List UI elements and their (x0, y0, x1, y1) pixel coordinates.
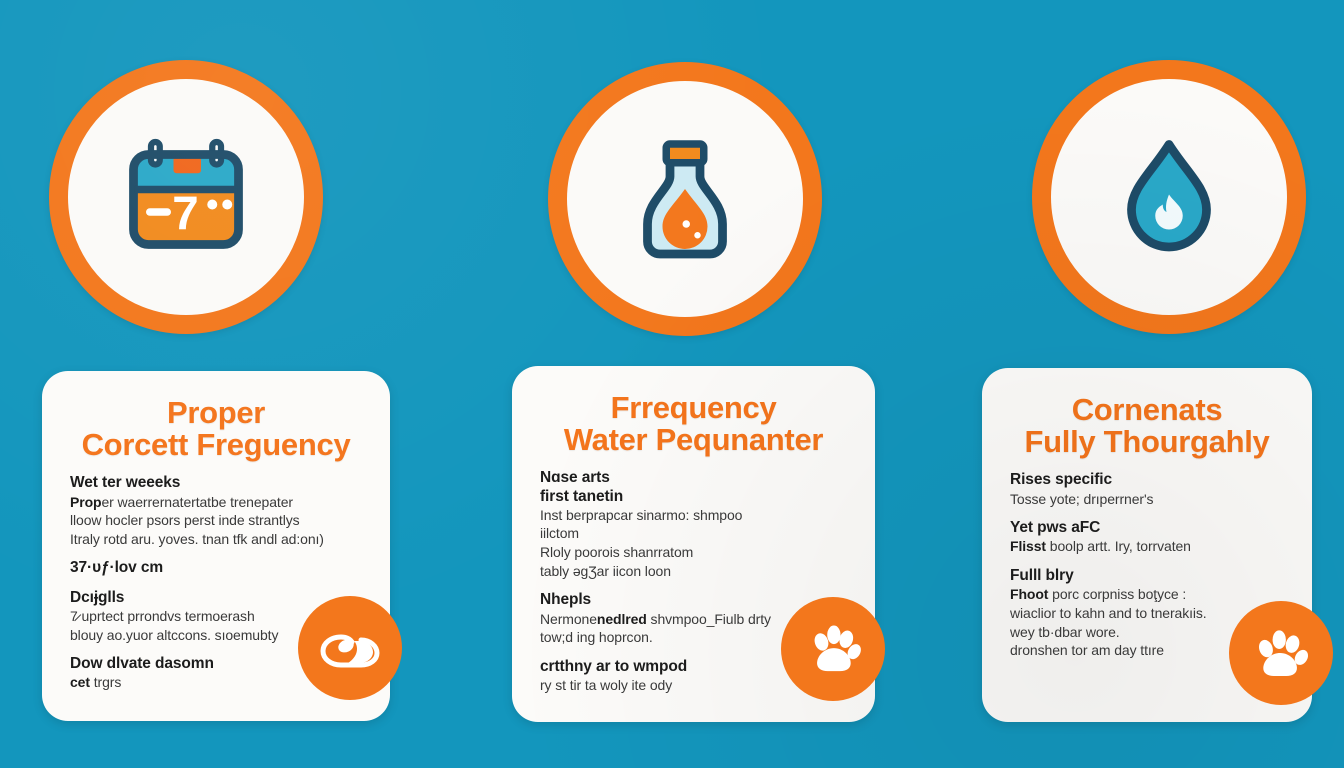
shampoo-bottle-icon (610, 124, 760, 274)
card-3-title: Cornenats Fully Thourgahly (1004, 394, 1290, 457)
paw-print-icon (315, 613, 385, 683)
card-2-block-3-line-1-c: shvmpoo_Fiulb drty (647, 611, 771, 627)
paw-badge-card-1 (298, 596, 402, 700)
card-2-block-2-heading: first tanetin (540, 488, 853, 506)
card-3-block-2: Yet pws aFC Flisst boolp artt. Iry, torr… (1010, 519, 1290, 556)
card-1-block-2: 37·ᴜƒ·lov cm (70, 559, 368, 577)
card-3-block-3-heading: Fulll blry (1010, 567, 1290, 585)
card-1-block-2-heading: 37·ᴜƒ·lov cm (70, 559, 368, 577)
card-3-block-2-heading: Yet pws aFC (1010, 519, 1290, 537)
card-2-block-2: first tanetin Inst berprapcar sinarmo: s… (540, 488, 853, 581)
card-1-block-1-line-1-lead: Prop (70, 494, 102, 510)
card-3-block-3-line-1-rest: porc corpniss boţyce : (1048, 586, 1186, 602)
card-1-title-line-2: Corcett Freguency (46, 429, 386, 461)
paw-print-icon (802, 618, 864, 680)
paw-badge-card-3 (1229, 601, 1333, 705)
card-1-title: Proper Corcett Freguency (64, 397, 368, 460)
icon-badge-water-droplet (1032, 60, 1306, 334)
card-1-title-line-1: Proper (167, 395, 265, 430)
card-3-title-line-1: Cornenats (1072, 392, 1223, 427)
card-2-block-1-heading: Nɑse arts (540, 469, 853, 487)
card-2-block-3-line-1-b: nedlred (597, 611, 647, 627)
card-2-title-line-2: Water Pequnanter (520, 424, 867, 456)
card-2-block-2-line-4: tably əgƷar iicon loon (540, 562, 853, 581)
card-3-block-3-line-1: Fhoot porc corpniss boţyce : (1010, 585, 1290, 604)
card-2-block-2-line-1: Inst berprapcar sinarmo: shmpoo (540, 506, 853, 525)
water-droplet-icon (1094, 122, 1244, 272)
card-1-block-1-line-2: lloow hocler psors perst inde strantlys (70, 511, 368, 530)
card-3-title-line-2: Fully Thourgahly (982, 426, 1312, 458)
card-3-block-1-line-1: Tosse yote; drıperrner's (1010, 490, 1290, 509)
card-1-block-1-line-3: Itraly rotd aru. yoves. tnan tfk andl ad… (70, 530, 368, 549)
card-1-block-4-line-1-lead: cet (70, 674, 90, 690)
card-2-block-2-line-2: iilctom (540, 524, 853, 543)
card-2-block-1: Nɑse arts (540, 469, 853, 487)
card-3-block-1-heading: Rises specific (1010, 471, 1290, 489)
card-1-block-1-line-1: Proper waerrernatertatbe trenepater (70, 493, 368, 512)
card-2-block-3-line-1-a: Nermone (540, 611, 597, 627)
card-3-block-2-line-1-rest: boolp artt. Iry, torrvaten (1046, 538, 1191, 554)
card-1-block-4-line-1-rest: trgrs (90, 674, 121, 690)
card-2-block-2-line-3: Rloly poorois shanrratom (540, 543, 853, 562)
card-1-block-1: Wet ter weeeks Proper waerrernatertatbe … (70, 474, 368, 548)
svg-text:7: 7 (172, 188, 198, 241)
icon-badge-shampoo-bottle (548, 62, 822, 336)
card-2-title: Frrequency Water Pequnanter (534, 392, 853, 455)
card-1-block-1-line-1-rest: er waerrernatertatbe trenepater (102, 494, 293, 510)
paw-badge-card-2 (781, 597, 885, 701)
card-2-title-line-1: Frrequency (611, 390, 777, 425)
calendar-seven-icon: 7 (111, 122, 261, 272)
card-3-block-2-line-1-lead: Flisst (1010, 538, 1046, 554)
infographic-canvas: 7 (0, 0, 1344, 768)
card-3-block-1: Rises specific Tosse yote; drıperrner's (1010, 471, 1290, 508)
card-3-block-3-line-1-lead: Fhoot (1010, 586, 1048, 602)
paw-print-icon (1250, 622, 1312, 684)
card-1-block-1-heading: Wet ter weeeks (70, 474, 368, 492)
icon-badge-calendar: 7 (49, 60, 323, 334)
card-3-block-2-line-1: Flisst boolp artt. Iry, torrvaten (1010, 537, 1290, 556)
